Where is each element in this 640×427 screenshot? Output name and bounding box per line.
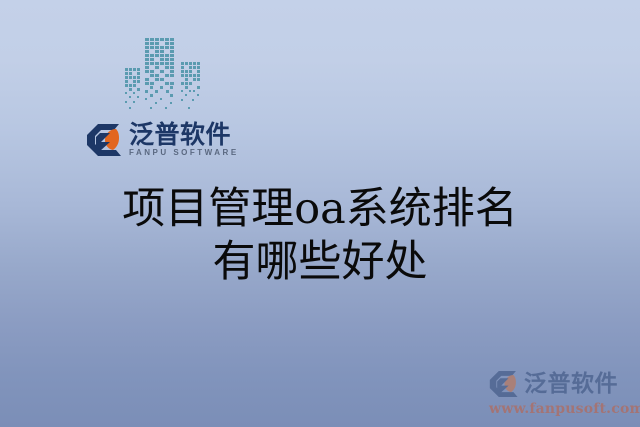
watermark-brand-name: 泛普软件 (524, 373, 618, 396)
brand-name-en: FANPU SOFTWARE (129, 148, 239, 158)
watermark-url: www.fanpusoft.com (489, 401, 637, 417)
watermark: 泛普软件 www.fanpusoft.com (489, 368, 637, 420)
pixel-skyline-graphic (122, 36, 206, 116)
fanpu-logo-mark-watermark-icon (489, 370, 520, 398)
brand-name-cn: 泛普软件 (129, 122, 239, 148)
brand-logo: 泛普软件 FANPU SOFTWARE (86, 119, 238, 161)
fanpu-logo-mark-icon (86, 123, 124, 157)
brand-logo-wordmark: 泛普软件 FANPU SOFTWARE (129, 122, 239, 159)
watermark-logo-row: 泛普软件 (489, 368, 637, 400)
page-title-line-1: 项目管理oa系统排名 (0, 183, 640, 236)
page-title: 项目管理oa系统排名 有哪些好处 (0, 183, 640, 289)
page-title-line-2: 有哪些好处 (0, 236, 640, 289)
banner-image: 泛普软件 FANPU SOFTWARE 项目管理oa系统排名 有哪些好处 泛普软… (0, 0, 640, 427)
